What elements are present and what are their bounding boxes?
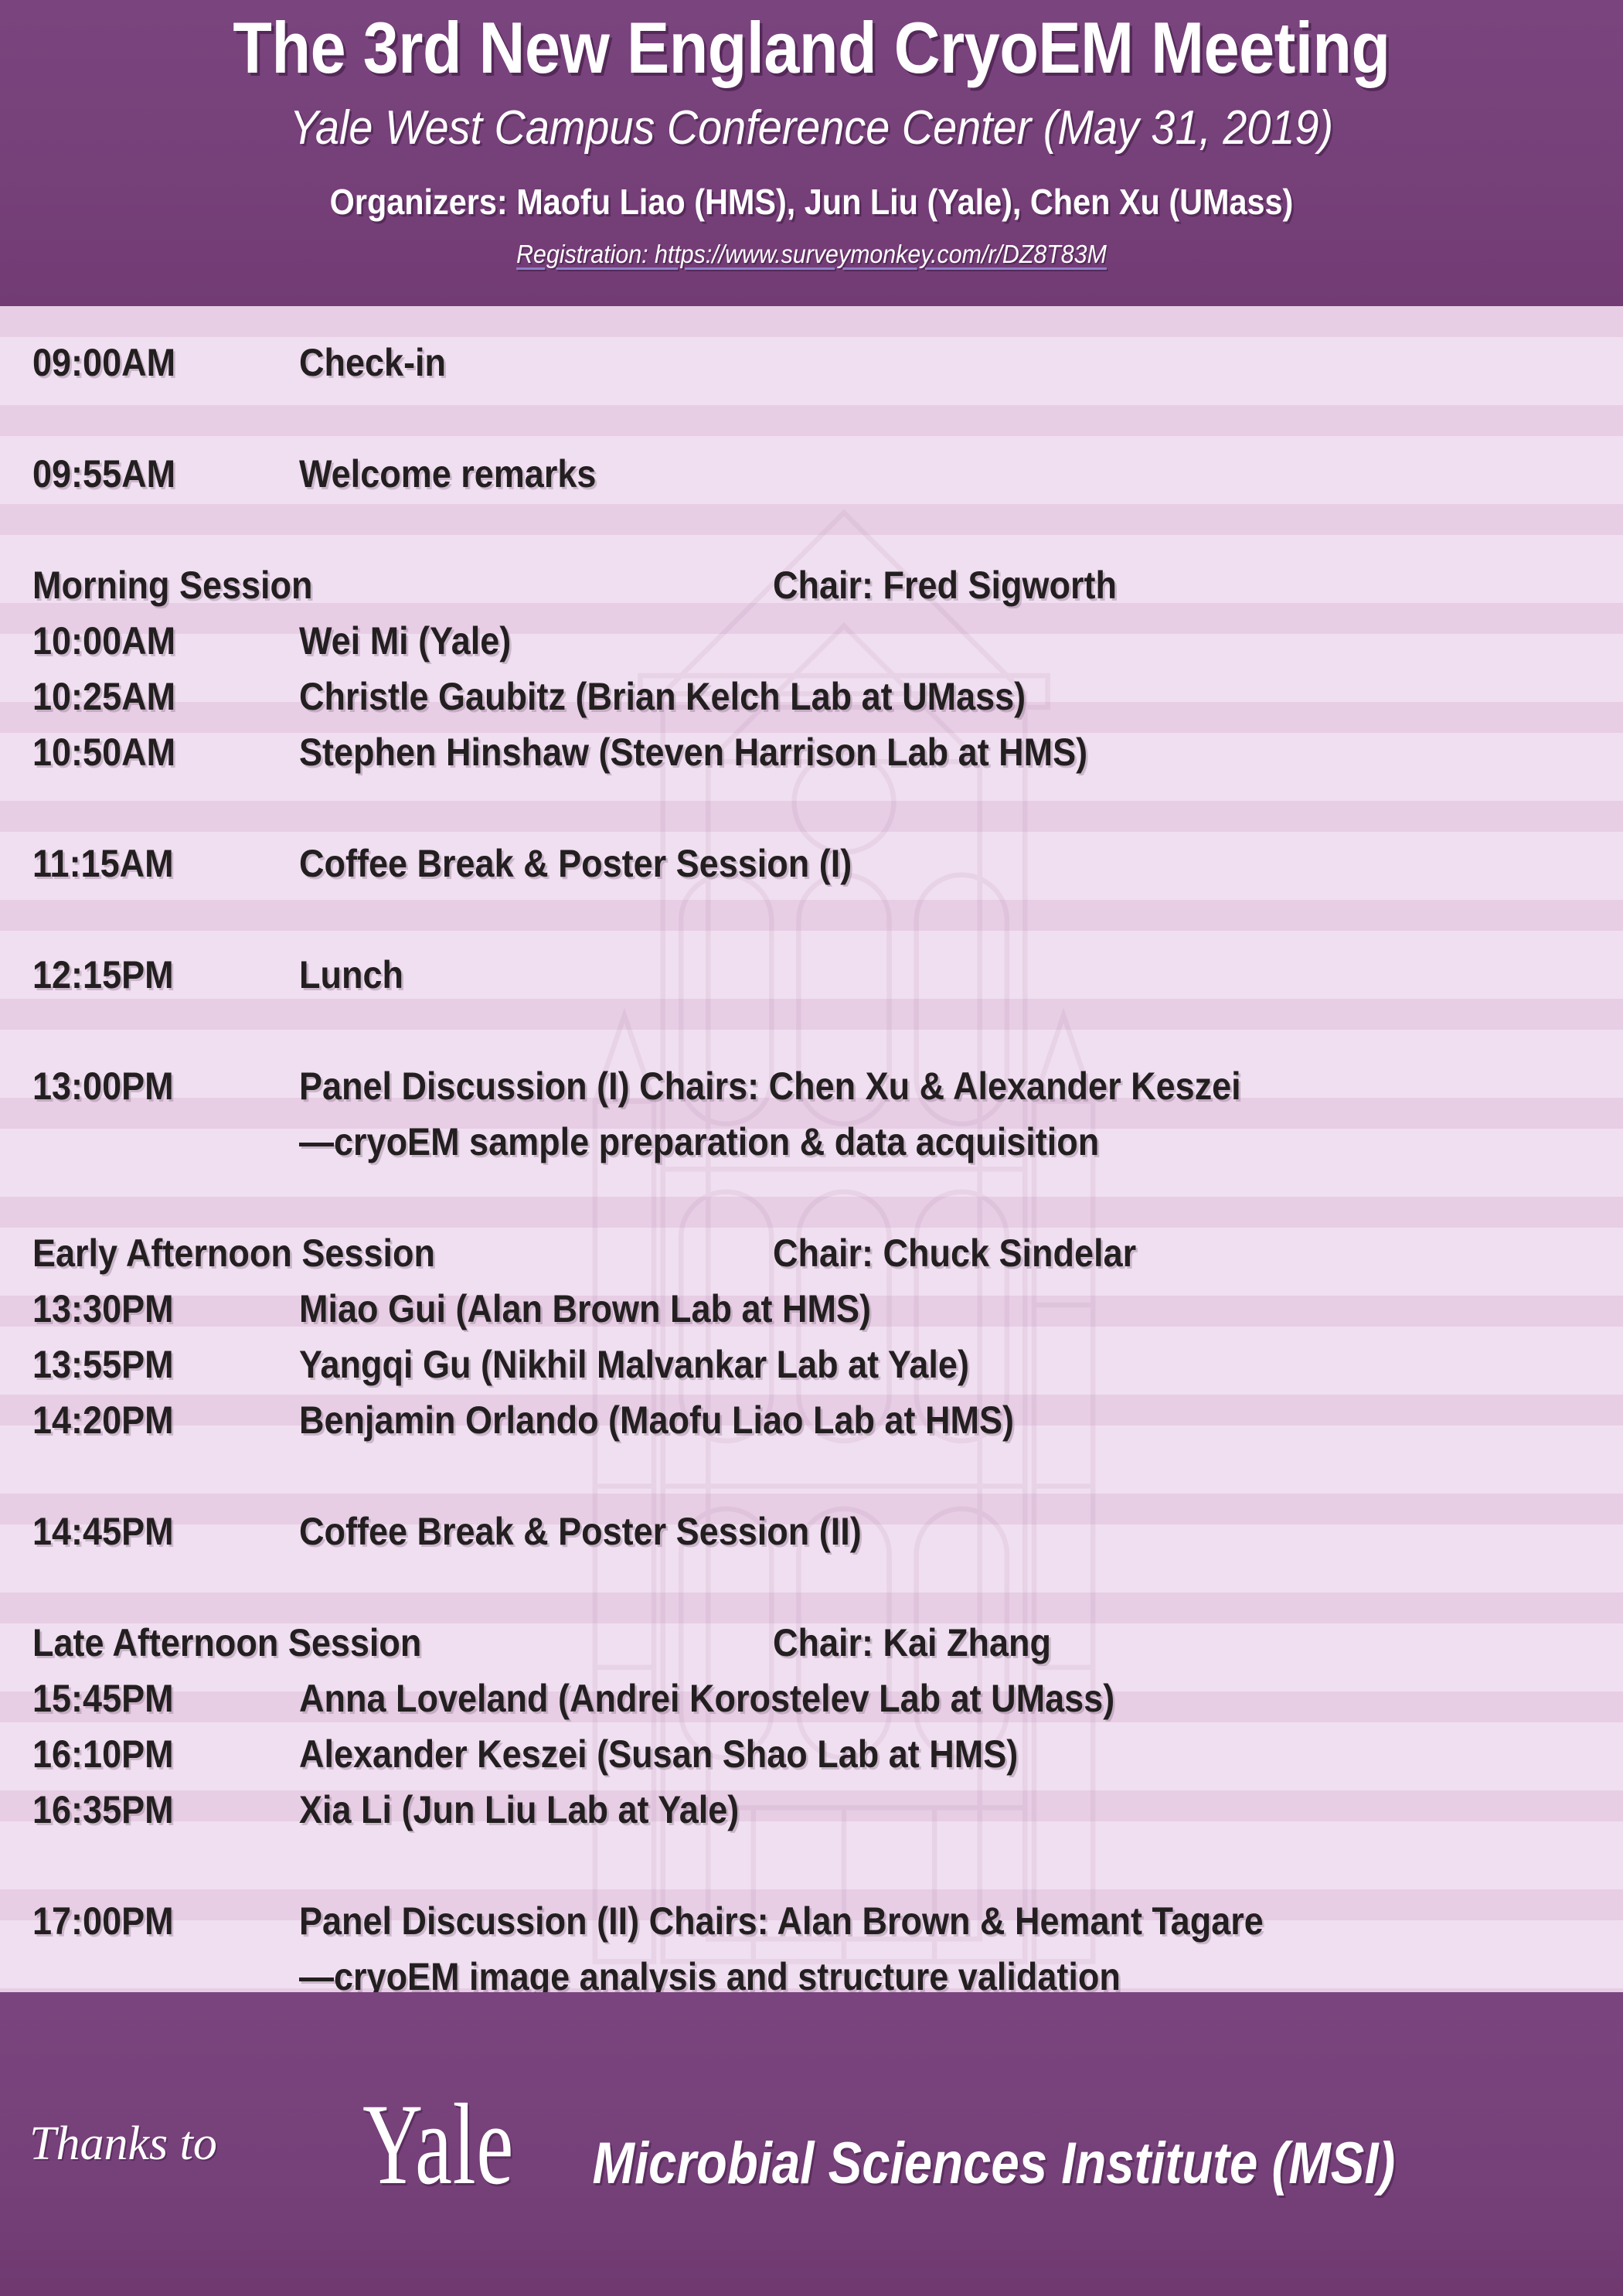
row-title: Xia Li (Jun Liu Lab at Yale) — [299, 1787, 1491, 1832]
session-name: Early Afternoon Session — [32, 1231, 435, 1276]
schedule-row: 14:20PM Benjamin Orlando (Maofu Liao Lab… — [0, 1398, 1623, 1443]
row-title: Check-in — [299, 340, 1491, 385]
schedule-row: 16:10PM Alexander Keszei (Susan Shao Lab… — [0, 1732, 1623, 1777]
row-time: 10:50AM — [32, 730, 273, 775]
schedule-row: 17:00PM Panel Discussion (II) Chairs: Al… — [0, 1899, 1623, 1943]
row-time: 11:15AM — [32, 841, 273, 886]
row-title: Welcome remarks — [299, 451, 1491, 496]
schedule-row: 14:45PM Coffee Break & Poster Session (I… — [0, 1509, 1623, 1554]
row-time: 16:35PM — [32, 1787, 273, 1832]
schedule-row: 15:45PM Anna Loveland (Andrei Korostelev… — [0, 1676, 1623, 1721]
row-title: Stephen Hinshaw (Steven Harrison Lab at … — [299, 730, 1491, 775]
yale-wordmark: Yale — [363, 2086, 515, 2202]
row-title: Panel Discussion (II) Chairs: Alan Brown… — [299, 1899, 1491, 1943]
session-chair: Chair: Fred Sigworth — [773, 563, 1117, 608]
row-title: Benjamin Orlando (Maofu Liao Lab at HMS) — [299, 1398, 1491, 1443]
schedule-row: 09:00AM Check-in — [0, 340, 1623, 385]
page-title: The 3rd New England CryoEM Meeting — [97, 11, 1526, 85]
conference-poster: The 3rd New England CryoEM Meeting Yale … — [0, 0, 1623, 2296]
row-time: 13:00PM — [32, 1064, 273, 1109]
row-title: Christle Gaubitz (Brian Kelch Lab at UMa… — [299, 674, 1491, 719]
msi-label: Microbial Sciences Institute (MSI) — [592, 2134, 1395, 2193]
row-time: 12:15PM — [32, 952, 273, 997]
session-chair: Chair: Chuck Sindelar — [773, 1231, 1136, 1276]
row-title: —cryoEM sample preparation & data acquis… — [299, 1119, 1491, 1164]
row-time: 16:10PM — [32, 1732, 273, 1777]
row-time: 13:55PM — [32, 1342, 273, 1387]
session-name: Morning Session — [32, 563, 313, 608]
poster-footer: Thanks to Yale Microbial Sciences Instit… — [0, 1992, 1623, 2296]
row-title: Wei Mi (Yale) — [299, 618, 1491, 663]
row-title: Lunch — [299, 952, 1491, 997]
row-title: Miao Gui (Alan Brown Lab at HMS) — [299, 1286, 1491, 1331]
row-time: 13:30PM — [32, 1286, 273, 1331]
row-time: 14:45PM — [32, 1509, 273, 1554]
row-time: 10:25AM — [32, 674, 273, 719]
schedule-row-subline: —cryoEM sample preparation & data acquis… — [0, 1119, 1623, 1164]
schedule-row: 12:15PM Lunch — [0, 952, 1623, 997]
schedule-row-subline: —cryoEM image analysis and structure val… — [0, 1954, 1623, 1992]
schedule-row: 11:15AM Coffee Break & Poster Session (I… — [0, 841, 1623, 886]
row-title: Coffee Break & Poster Session (II) — [299, 1509, 1491, 1554]
row-time: 10:00AM — [32, 618, 273, 663]
row-title: —cryoEM image analysis and structure val… — [299, 1954, 1491, 1992]
session-chair: Chair: Kai Zhang — [773, 1620, 1051, 1665]
schedule-row: 10:00AM Wei Mi (Yale) — [0, 618, 1623, 663]
poster-header: The 3rd New England CryoEM Meeting Yale … — [0, 0, 1623, 306]
session-name: Late Afternoon Session — [32, 1620, 421, 1665]
organizers-line: Organizers: Maofu Liao (HMS), Jun Liu (Y… — [81, 182, 1542, 222]
row-time: 15:45PM — [32, 1676, 273, 1721]
row-time: 17:00PM — [32, 1899, 273, 1943]
schedule-row: 16:35PM Xia Li (Jun Liu Lab at Yale) — [0, 1787, 1623, 1832]
schedule-row: 10:25AM Christle Gaubitz (Brian Kelch La… — [0, 674, 1623, 719]
row-time: 09:00AM — [32, 340, 273, 385]
schedule-row: 10:50AM Stephen Hinshaw (Steven Harrison… — [0, 730, 1623, 775]
schedule-row: 13:55PM Yangqi Gu (Nikhil Malvankar Lab … — [0, 1342, 1623, 1387]
row-time: 14:20PM — [32, 1398, 273, 1443]
schedule-body: 09:00AM Check-in 09:55AM Welcome remarks… — [0, 306, 1623, 1992]
row-title: Yangqi Gu (Nikhil Malvankar Lab at Yale) — [299, 1342, 1491, 1387]
schedule-row: 09:55AM Welcome remarks — [0, 451, 1623, 496]
sponsor-brand: Yale Microbial Sciences Institute (MSI) — [217, 2086, 1577, 2202]
row-title: Alexander Keszei (Susan Shao Lab at HMS) — [299, 1732, 1491, 1777]
row-time: 09:55AM — [32, 451, 273, 496]
row-title: Anna Loveland (Andrei Korostelev Lab at … — [299, 1676, 1491, 1721]
row-title: Coffee Break & Poster Session (I) — [299, 841, 1491, 886]
schedule-rows: 09:00AM Check-in 09:55AM Welcome remarks… — [0, 306, 1623, 1992]
thanks-label: Thanks to — [29, 2117, 217, 2172]
registration-link[interactable]: Registration: https://www.surveymonkey.c… — [65, 240, 1558, 268]
row-title: Panel Discussion (I) Chairs: Chen Xu & A… — [299, 1064, 1491, 1109]
schedule-row: 13:30PM Miao Gui (Alan Brown Lab at HMS) — [0, 1286, 1623, 1331]
venue-subtitle: Yale West Campus Conference Center (May … — [81, 102, 1542, 155]
schedule-row: 13:00PM Panel Discussion (I) Chairs: Che… — [0, 1064, 1623, 1109]
